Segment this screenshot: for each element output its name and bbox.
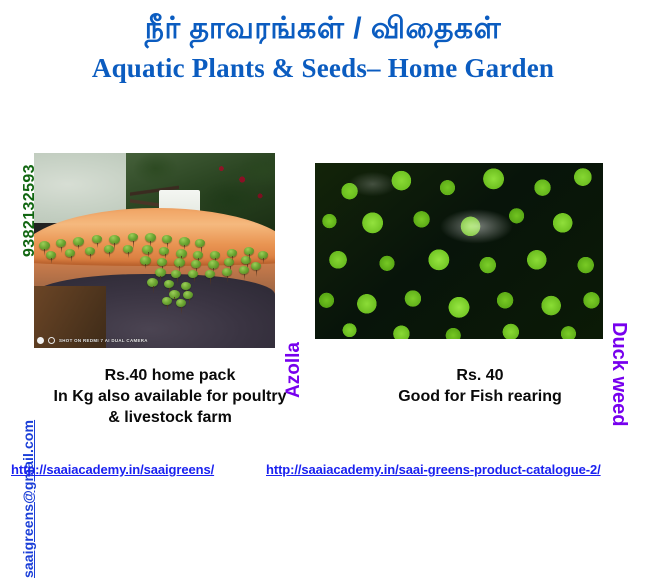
azolla-frond: [104, 245, 114, 253]
azolla-rootlet: [256, 270, 257, 277]
duckweed-photo: [315, 163, 603, 339]
azolla-frond: [56, 239, 66, 247]
azolla-rootlet: [167, 305, 168, 311]
azolla-frond: [164, 280, 174, 288]
page-title-tamil: நீர் தாவரங்கள் / விதைகள்: [0, 0, 646, 52]
duckweed-caption-line-2: Good for Fish rearing: [340, 386, 620, 407]
page-title-english: Aquatic Plants & Seeds– Home Garden: [0, 52, 646, 84]
azolla-frond: [162, 297, 172, 305]
azolla-rootlet: [249, 254, 250, 262]
watermark-dot-filled-icon: [37, 337, 44, 344]
azolla-frond: [176, 299, 186, 307]
azolla-rootlet: [177, 278, 178, 284]
duckweed-caption: Rs. 40 Good for Fish rearing: [340, 365, 620, 407]
azolla-rootlet: [210, 278, 211, 286]
azolla-frond: [157, 258, 167, 266]
azolla-caption-line-2: In Kg also available for poultry: [24, 386, 316, 407]
page-header: நீர் தாவரங்கள் / விதைகள் Aquatic Plants …: [0, 0, 646, 84]
azolla-frond: [210, 251, 220, 259]
azolla-rootlet: [90, 254, 91, 260]
azolla-frond: [123, 245, 133, 253]
azolla-frond: [181, 282, 191, 290]
azolla-rootlet: [153, 286, 154, 294]
azolla-frond: [162, 235, 172, 243]
azolla-frond: [92, 235, 102, 243]
link-saaigreens[interactable]: http://saaiacademy.in/saaigreens/: [11, 462, 214, 477]
azolla-rootlet: [194, 278, 195, 283]
azolla-fronds: [34, 153, 275, 348]
watermark-text: SHOT ON REDMI 7 AI DUAL CAMERA: [59, 338, 148, 344]
azolla-caption: Rs.40 home pack In Kg also available for…: [24, 365, 316, 428]
azolla-frond: [222, 268, 232, 276]
azolla-rootlet: [263, 258, 264, 264]
azolla-rootlet: [51, 258, 52, 264]
azolla-frond: [195, 239, 205, 247]
azolla-frond: [46, 251, 56, 259]
azolla-rootlet: [181, 307, 182, 315]
azolla-rootlet: [189, 299, 190, 306]
azolla-caption-line-3: & livestock farm: [24, 407, 316, 428]
azolla-photo: SHOT ON REDMI 7 AI DUAL CAMERA: [34, 153, 275, 348]
azolla-frond: [65, 249, 75, 257]
azolla-rootlet: [128, 252, 129, 258]
azolla-caption-line-1: Rs.40 home pack: [24, 365, 316, 386]
link-product-catalogue[interactable]: http://saaiacademy.in/saai-greens-produc…: [266, 462, 601, 477]
azolla-rootlet: [244, 274, 245, 280]
azolla-frond: [205, 270, 215, 278]
azolla-frond: [227, 249, 237, 257]
azolla-frond: [128, 233, 138, 241]
azolla-frond: [258, 251, 268, 259]
azolla-rootlet: [227, 276, 228, 283]
azolla-frond: [159, 247, 169, 255]
azolla-frond: [251, 262, 261, 270]
azolla-rootlet: [174, 297, 175, 302]
azolla-rootlet: [145, 264, 146, 269]
azolla-rootlet: [44, 249, 45, 256]
azolla-frond: [188, 270, 198, 278]
azolla-rootlet: [97, 243, 98, 248]
azolla-frond: [244, 247, 254, 255]
azolla-frond: [191, 260, 201, 268]
azolla-rootlet: [109, 252, 110, 258]
azolla-rootlet: [61, 247, 62, 253]
azolla-frond: [193, 251, 203, 259]
water-sheen: [315, 163, 603, 339]
azolla-frond: [183, 291, 193, 299]
azolla-frond: [85, 247, 95, 255]
azolla-frond: [239, 266, 249, 274]
watermark-dot-hollow-icon: [48, 337, 55, 344]
camera-watermark: SHOT ON REDMI 7 AI DUAL CAMERA: [37, 337, 148, 344]
azolla-rootlet: [232, 256, 233, 261]
azolla-rootlet: [133, 241, 134, 249]
azolla-rootlet: [160, 276, 161, 283]
footer-links: http://saaiacademy.in/saaigreens/ http:/…: [0, 462, 646, 488]
azolla-rootlet: [114, 243, 115, 251]
duckweed-caption-line-1: Rs. 40: [340, 365, 620, 386]
azolla-frond: [171, 270, 181, 278]
azolla-rootlet: [78, 245, 79, 250]
azolla-rootlet: [71, 256, 72, 262]
